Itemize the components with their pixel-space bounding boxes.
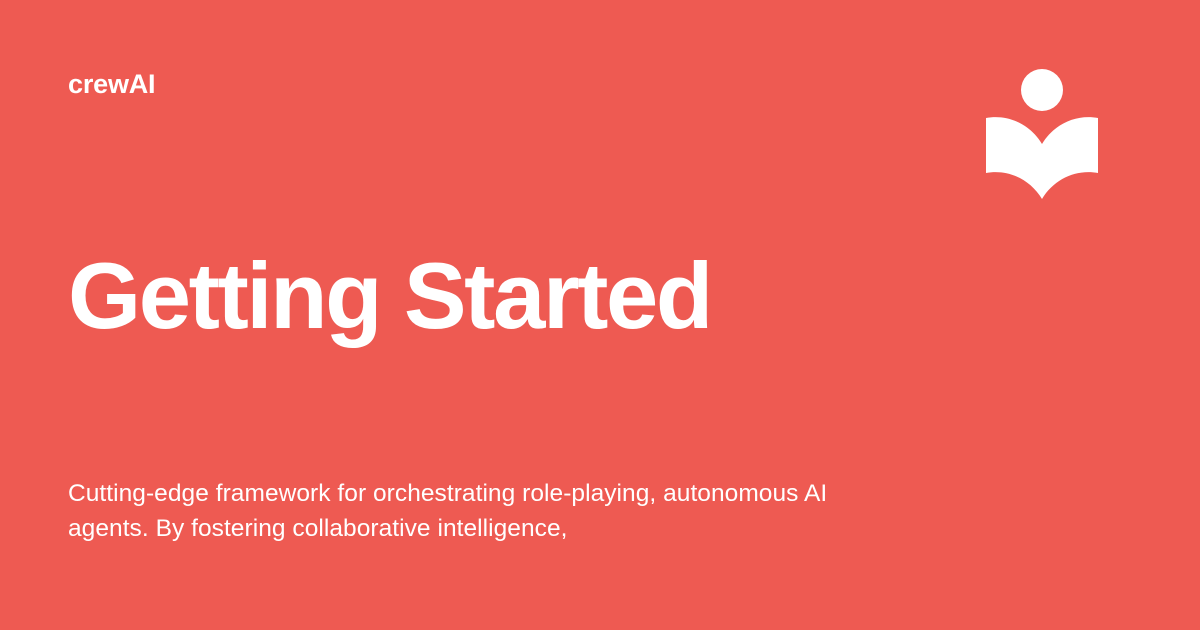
brand-name: crewAI <box>68 70 155 100</box>
page-title: Getting Started <box>68 246 1132 346</box>
page-description: Cutting-edge framework for orchestrating… <box>68 476 858 546</box>
og-preview-card: crewAI Getting Started Cutting-edge fram… <box>0 0 1200 630</box>
open-book-reader-icon <box>986 68 1098 200</box>
layout-spacer <box>68 346 1132 476</box>
brand-row: crewAI <box>68 62 1132 200</box>
